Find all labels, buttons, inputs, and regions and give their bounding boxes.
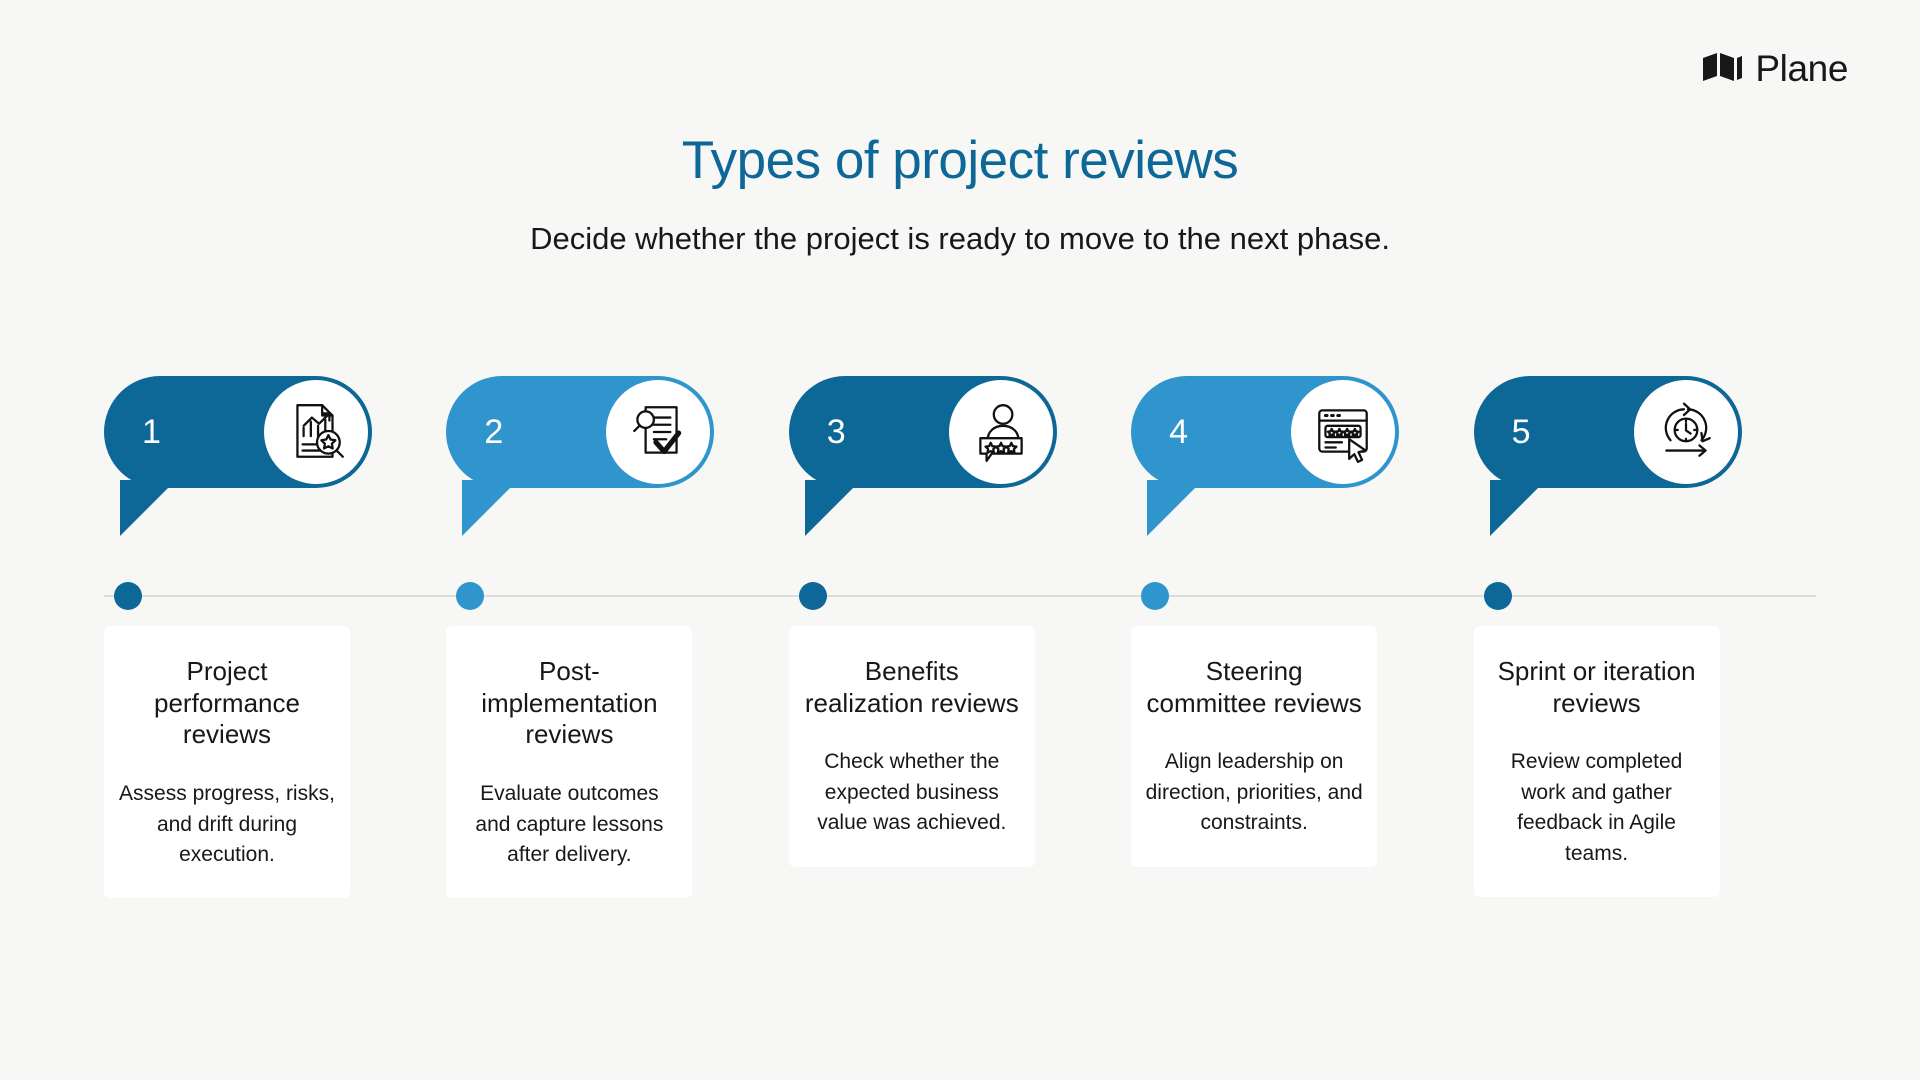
- step-card-description-3: Check whether the expected business valu…: [803, 719, 1021, 838]
- timeline-step-3: 3 Benefits real: [789, 376, 1131, 488]
- timeline-step-1: 1: [104, 376, 446, 488]
- browser-stars-cursor-icon: [1291, 380, 1395, 484]
- agile-cycle-clock-icon: [1634, 380, 1738, 484]
- step-badge-5[interactable]: 5: [1474, 376, 1742, 488]
- step-pill-1[interactable]: 1: [104, 376, 372, 488]
- page-title: Types of project reviews: [0, 132, 1920, 190]
- timeline: 1: [104, 376, 1816, 976]
- step-pill-tail-1: [120, 480, 176, 536]
- person-star-rating-icon: [949, 380, 1053, 484]
- page-header: Types of project reviews Decide whether …: [0, 132, 1920, 257]
- step-pill-2[interactable]: 2: [446, 376, 714, 488]
- step-card-description-2: Evaluate outcomes and capture lessons af…: [460, 751, 678, 870]
- step-badge-3[interactable]: 3: [789, 376, 1057, 488]
- step-card-description-4: Align leadership on direction, prioritie…: [1145, 719, 1363, 838]
- timeline-dot-3[interactable]: [799, 582, 827, 610]
- step-pill-tail-3: [805, 480, 861, 536]
- step-card-2: Post-implementation reviews Evaluate out…: [446, 626, 692, 898]
- page-subtitle: Decide whether the project is ready to m…: [0, 190, 1920, 257]
- step-number-2: 2: [484, 415, 503, 449]
- timeline-track: [104, 595, 1816, 597]
- brand-logo: Plane: [1701, 48, 1848, 90]
- step-card-title-1: Project performance reviews: [118, 656, 336, 751]
- step-card-title-5: Sprint or iteration reviews: [1488, 656, 1706, 719]
- step-pill-4[interactable]: 4: [1131, 376, 1399, 488]
- timeline-dot-2[interactable]: [456, 582, 484, 610]
- timeline-dot-4[interactable]: [1141, 582, 1169, 610]
- timeline-step-4: 4: [1131, 376, 1473, 488]
- timeline-step-5: 5: [1474, 376, 1816, 488]
- step-badge-1[interactable]: 1: [104, 376, 372, 488]
- brand-name: Plane: [1755, 48, 1848, 90]
- timeline-step-2: 2 Post-implementation reviews: [446, 376, 788, 488]
- step-card-1: Project performance reviews Assess progr…: [104, 626, 350, 898]
- timeline-columns: 1: [104, 376, 1816, 488]
- step-card-3: Benefits realization reviews Check wheth…: [789, 626, 1035, 867]
- step-card-description-5: Review completed work and gather feedbac…: [1488, 719, 1706, 869]
- timeline-dot-5[interactable]: [1484, 582, 1512, 610]
- document-chart-magnifier-icon: [264, 380, 368, 484]
- step-pill-3[interactable]: 3: [789, 376, 1057, 488]
- step-card-4: Steering committee reviews Align leaders…: [1131, 626, 1377, 867]
- step-number-1: 1: [142, 415, 161, 449]
- step-card-title-2: Post-implementation reviews: [460, 656, 678, 751]
- step-card-title-3: Benefits realization reviews: [803, 656, 1021, 719]
- step-badge-2[interactable]: 2: [446, 376, 714, 488]
- step-number-5: 5: [1512, 415, 1531, 449]
- step-pill-5[interactable]: 5: [1474, 376, 1742, 488]
- step-number-4: 4: [1169, 415, 1188, 449]
- step-card-description-1: Assess progress, risks, and drift during…: [118, 751, 336, 870]
- step-badge-4[interactable]: 4: [1131, 376, 1399, 488]
- step-card-title-4: Steering committee reviews: [1145, 656, 1363, 719]
- step-pill-tail-2: [462, 480, 518, 536]
- plane-logo-icon: [1701, 52, 1743, 87]
- step-pill-tail-4: [1147, 480, 1203, 536]
- timeline-dot-1[interactable]: [114, 582, 142, 610]
- step-pill-tail-5: [1490, 480, 1546, 536]
- step-number-3: 3: [827, 415, 846, 449]
- step-card-5: Sprint or iteration reviews Review compl…: [1474, 626, 1720, 897]
- document-review-checkmark-icon: [606, 380, 710, 484]
